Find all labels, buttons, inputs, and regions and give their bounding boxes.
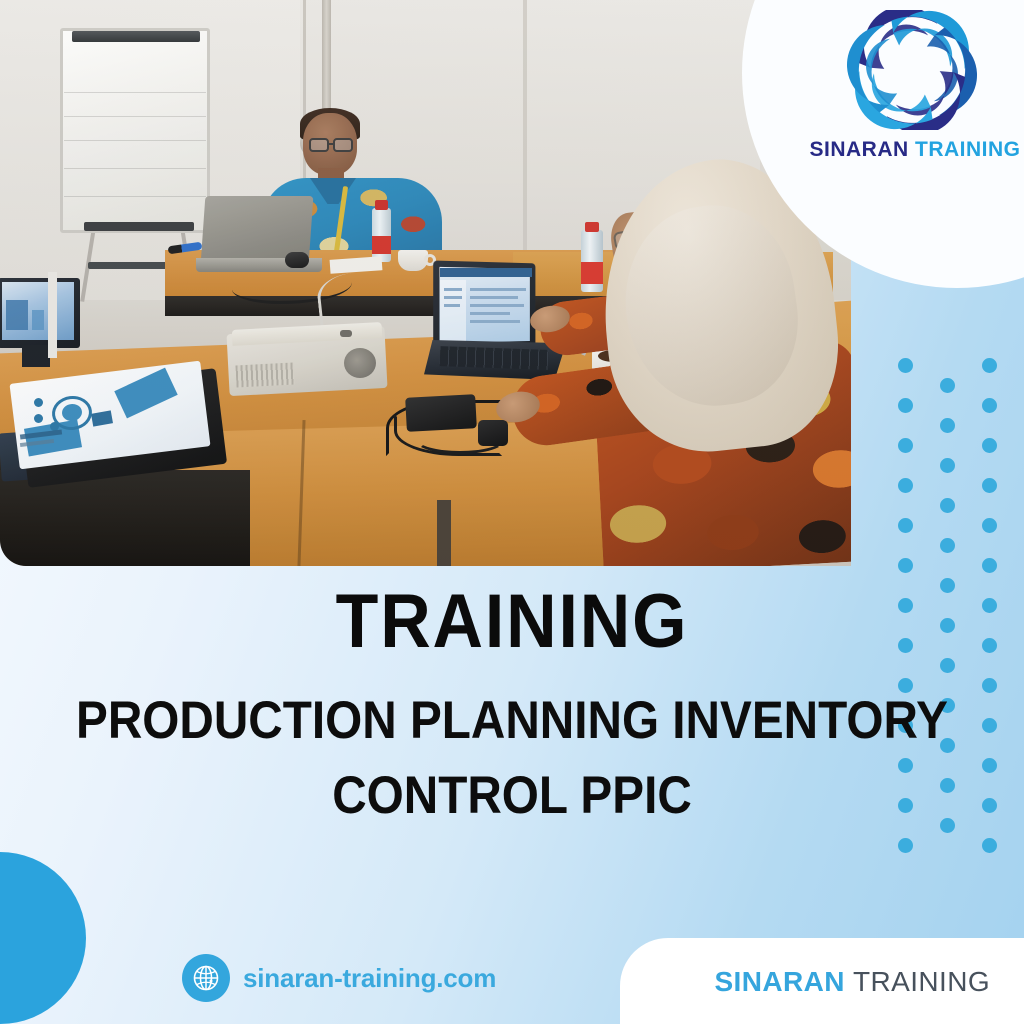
decorative-dot <box>898 838 913 853</box>
logo-word-primary: SINARAN <box>809 138 908 161</box>
footer-wordmark: SINARAN TRAINING <box>714 966 990 998</box>
decorative-dot <box>982 758 997 773</box>
photo-overlay <box>0 0 851 566</box>
website-link[interactable]: sinaran-training.com <box>182 954 496 1002</box>
logo-word-secondary: TRAINING <box>915 138 1021 161</box>
decorative-dot <box>898 518 913 533</box>
footer-word-primary: SINARAN <box>714 966 844 997</box>
decorative-dot <box>982 718 997 733</box>
subtitle-line-2: CONTROL PPIC <box>64 758 960 833</box>
decorative-dot <box>898 358 913 373</box>
decorative-dot <box>982 478 997 493</box>
page-subtitle: PRODUCTION PLANNING INVENTORY CONTROL PP… <box>64 683 960 834</box>
decorative-dot <box>940 538 955 553</box>
decorative-dot <box>898 438 913 453</box>
decorative-dot <box>982 638 997 653</box>
poster-canvas: SINARAN TRAINING TRAINING PRODUCTION PLA… <box>0 0 1024 1024</box>
logo-wordmark: SINARAN TRAINING <box>806 138 1024 162</box>
decorative-dot <box>982 558 997 573</box>
decorative-dot <box>898 478 913 493</box>
decorative-dot <box>982 358 997 373</box>
decorative-dot <box>982 598 997 613</box>
decorative-dot <box>898 558 913 573</box>
subtitle-line-1: PRODUCTION PLANNING INVENTORY <box>64 683 960 758</box>
decorative-dot <box>940 378 955 393</box>
decorative-dot <box>898 398 913 413</box>
decorative-dot <box>982 838 997 853</box>
decorative-dot <box>982 798 997 813</box>
decorative-dot <box>982 678 997 693</box>
decorative-dot <box>982 398 997 413</box>
brand-logo: SINARAN TRAINING <box>806 10 1024 180</box>
decorative-dot <box>940 498 955 513</box>
footer-word-secondary: TRAINING <box>853 966 990 997</box>
globe-icon <box>182 954 230 1002</box>
corner-circle-decoration <box>0 852 86 1024</box>
decorative-dot <box>982 438 997 453</box>
training-room-photo <box>0 0 851 566</box>
decorative-dot <box>982 518 997 533</box>
website-url-text: sinaran-training.com <box>243 963 496 994</box>
decorative-dot <box>940 418 955 433</box>
sinaran-swirl-logo-icon <box>842 10 982 130</box>
page-title: TRAINING <box>41 578 983 665</box>
decorative-dot <box>940 458 955 473</box>
